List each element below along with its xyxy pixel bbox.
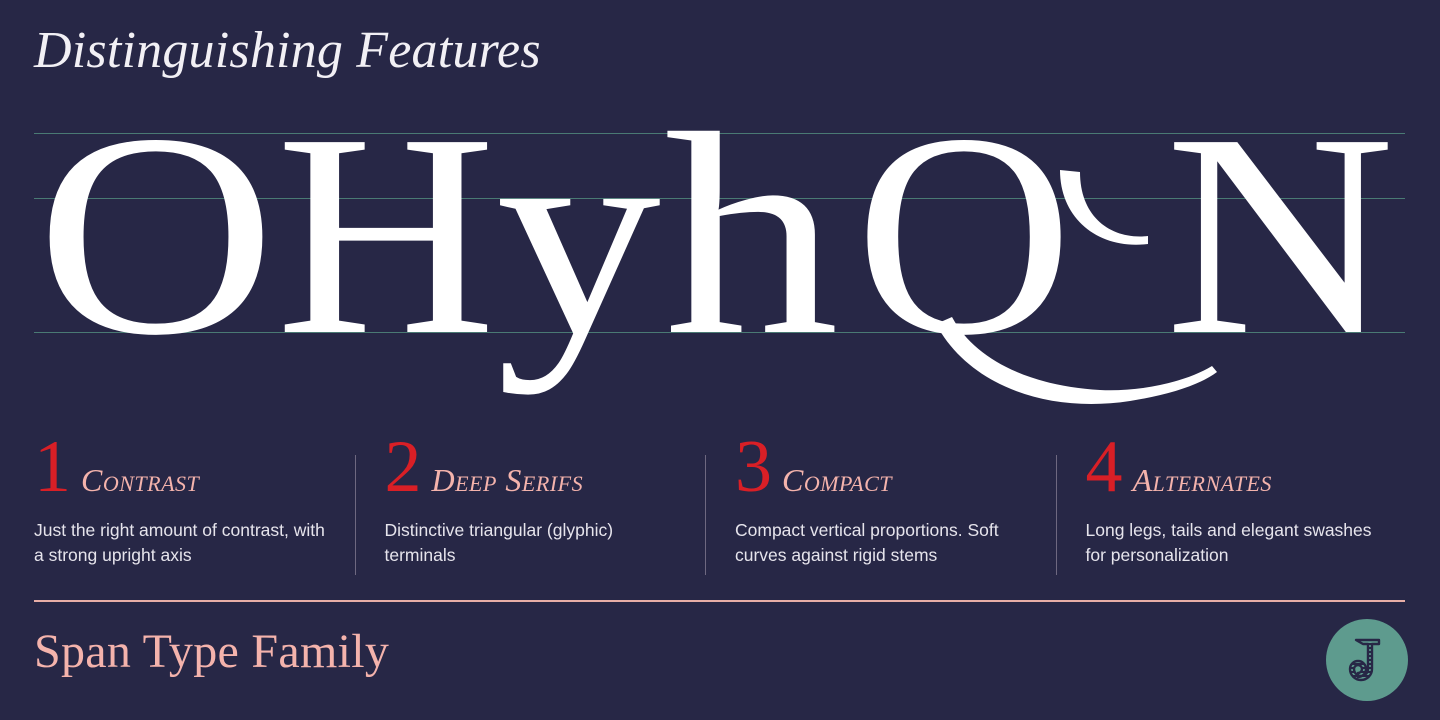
- feature-name: Contrast: [81, 464, 199, 496]
- footer-title: Span Type Family: [34, 626, 389, 679]
- feature-heading: 1 Contrast: [34, 430, 333, 502]
- page-title: Distinguishing Features: [34, 22, 541, 79]
- feature-description: Compact vertical proportions. Soft curve…: [735, 518, 1034, 569]
- type-specimen-poster: Distinguishing Features O H y h O N: [0, 0, 1440, 720]
- footer-divider: [34, 600, 1405, 602]
- feature-item-alternates: 4 Alternates Long legs, tails and elegan…: [1056, 430, 1407, 580]
- feature-description: Just the right amount of contrast, with …: [34, 518, 333, 569]
- feature-name: Deep Serifs: [432, 464, 584, 496]
- feature-heading: 2 Deep Serifs: [385, 430, 684, 502]
- feature-item-contrast: 1 Contrast Just the right amount of cont…: [34, 430, 355, 580]
- brand-logo: [1326, 619, 1408, 701]
- feature-name: Compact: [782, 464, 892, 496]
- feature-description: Long legs, tails and elegant swashes for…: [1086, 518, 1385, 569]
- feature-number: 4: [1086, 430, 1123, 504]
- feature-number: 2: [385, 430, 422, 504]
- feature-item-compact: 3 Compact Compact vertical proportions. …: [705, 430, 1056, 580]
- feature-item-deep-serifs: 2 Deep Serifs Distinctive triangular (gl…: [355, 430, 706, 580]
- feature-number: 1: [34, 430, 71, 504]
- feature-number: 3: [735, 430, 772, 504]
- feature-heading: 3 Compact: [735, 430, 1034, 502]
- feature-heading: 4 Alternates: [1086, 430, 1385, 502]
- glyph-O: O: [36, 110, 276, 395]
- glyph-h: h: [664, 110, 839, 395]
- feature-description: Distinctive triangular (glyphic) termina…: [385, 518, 684, 569]
- glyph-N: N: [1165, 110, 1395, 395]
- glyph-H: H: [276, 110, 496, 395]
- specimen-glyphs: O H y h O N: [0, 110, 1440, 420]
- glyph-specimen-band: O H y h O N: [0, 110, 1440, 420]
- feature-list: 1 Contrast Just the right amount of cont…: [34, 430, 1406, 580]
- feature-name: Alternates: [1133, 464, 1272, 496]
- glyph-N-swash-arm: [1060, 170, 1148, 245]
- glyph-y: y: [496, 110, 661, 395]
